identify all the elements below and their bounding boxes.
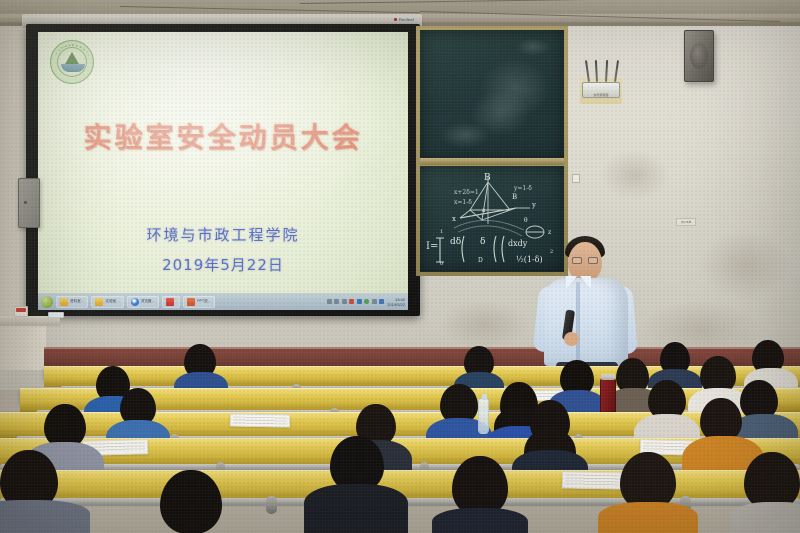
taskbar-item[interactable]: 资料室… — [56, 296, 88, 308]
taskbar-clock[interactable]: 13:42 2019/5/22 — [387, 297, 405, 307]
wall-stain — [600, 150, 670, 200]
taskbar-item-label: 实验室… — [105, 299, 119, 304]
speaker-cone-icon — [690, 43, 708, 69]
red-app-icon — [166, 298, 174, 306]
person-head — [160, 470, 222, 533]
wall-stain — [700, 230, 790, 300]
person-torso — [598, 502, 698, 533]
windows-taskbar[interactable]: 资料室… 实验室… 浏览器… PPT放… — [38, 293, 408, 310]
taskbar-item-label: 浏览器… — [141, 299, 155, 304]
projection-screen-surface: 实验室安全动员大会 环境与市政工程学院 2019年5月22日 资料室… 实验室…… — [38, 32, 408, 310]
projection-screen-frame: 实验室安全动员大会 环境与市政工程学院 2019年5月22日 资料室… 实验室…… — [26, 24, 420, 316]
blackboard-upper-panel — [420, 30, 564, 160]
slide-subtitle: 环境与市政工程学院 — [38, 224, 408, 245]
clock-date: 2019/5/22 — [387, 302, 405, 307]
folder-icon — [95, 298, 103, 306]
person-torso — [304, 484, 408, 533]
taskbar-item-label: 资料室… — [70, 299, 84, 304]
taskbar-item[interactable]: PPT放… — [183, 296, 215, 308]
light-switch[interactable] — [572, 174, 580, 183]
electrical-panel[interactable] — [18, 178, 40, 228]
jammer-label: 信号屏蔽器 — [593, 93, 608, 97]
water-bottle — [478, 398, 489, 434]
person-torso — [0, 500, 90, 533]
presenter-collar — [580, 276, 591, 289]
tray-icon-heart[interactable] — [349, 299, 354, 304]
desk-row — [0, 470, 800, 492]
slide-title: 实验室安全动员大会 — [38, 116, 408, 156]
glasses-icon — [572, 257, 599, 264]
wall-notice: 禁止吸烟 — [676, 218, 696, 226]
tray-icon-arrow[interactable] — [334, 299, 339, 304]
taskbar-item[interactable] — [162, 296, 180, 308]
signal-jammer-device: 信号屏蔽器 — [582, 82, 620, 98]
tray-icon-shield[interactable] — [357, 299, 362, 304]
person-head — [452, 456, 508, 516]
folder-icon — [60, 298, 68, 306]
lecture-hall-photo: Redleaf 实验室安全动员大会 环境与市政工程学院 2019年5月22日 资… — [0, 0, 800, 533]
taskbar-item[interactable]: 实验室… — [91, 296, 123, 308]
seat-knob — [266, 496, 277, 514]
tray-icon-monitor[interactable] — [342, 299, 347, 304]
ledge-remote — [32, 311, 46, 316]
taskbar-item[interactable]: 浏览器… — [127, 296, 159, 308]
paper-handout — [230, 413, 290, 427]
housing-brand-label: Redleaf — [394, 17, 414, 22]
ledge-tray — [48, 312, 64, 318]
presenter-shirt-placket — [576, 282, 580, 362]
tray-icon-antivirus[interactable] — [364, 299, 369, 304]
person-torso — [432, 508, 528, 533]
tray-icon-network[interactable] — [379, 299, 384, 304]
slide-date: 2019年5月22日 — [38, 254, 408, 275]
wall-speaker — [684, 30, 714, 82]
start-button-icon[interactable] — [41, 296, 53, 308]
taskbar-item-label: PPT放… — [197, 299, 211, 304]
university-emblem-icon — [50, 40, 94, 84]
presenter-shirt — [544, 278, 628, 366]
tray-icon-volume[interactable] — [372, 299, 377, 304]
powerpoint-icon — [187, 298, 195, 306]
blackboard-divider — [420, 158, 564, 165]
ledge-box-label — [16, 308, 26, 312]
person-torso — [730, 502, 800, 533]
presenter-hand — [564, 332, 579, 346]
system-tray[interactable] — [327, 299, 385, 304]
chrome-icon — [131, 298, 139, 306]
tray-icon-cloud[interactable] — [327, 299, 332, 304]
wall-stain — [440, 300, 530, 350]
